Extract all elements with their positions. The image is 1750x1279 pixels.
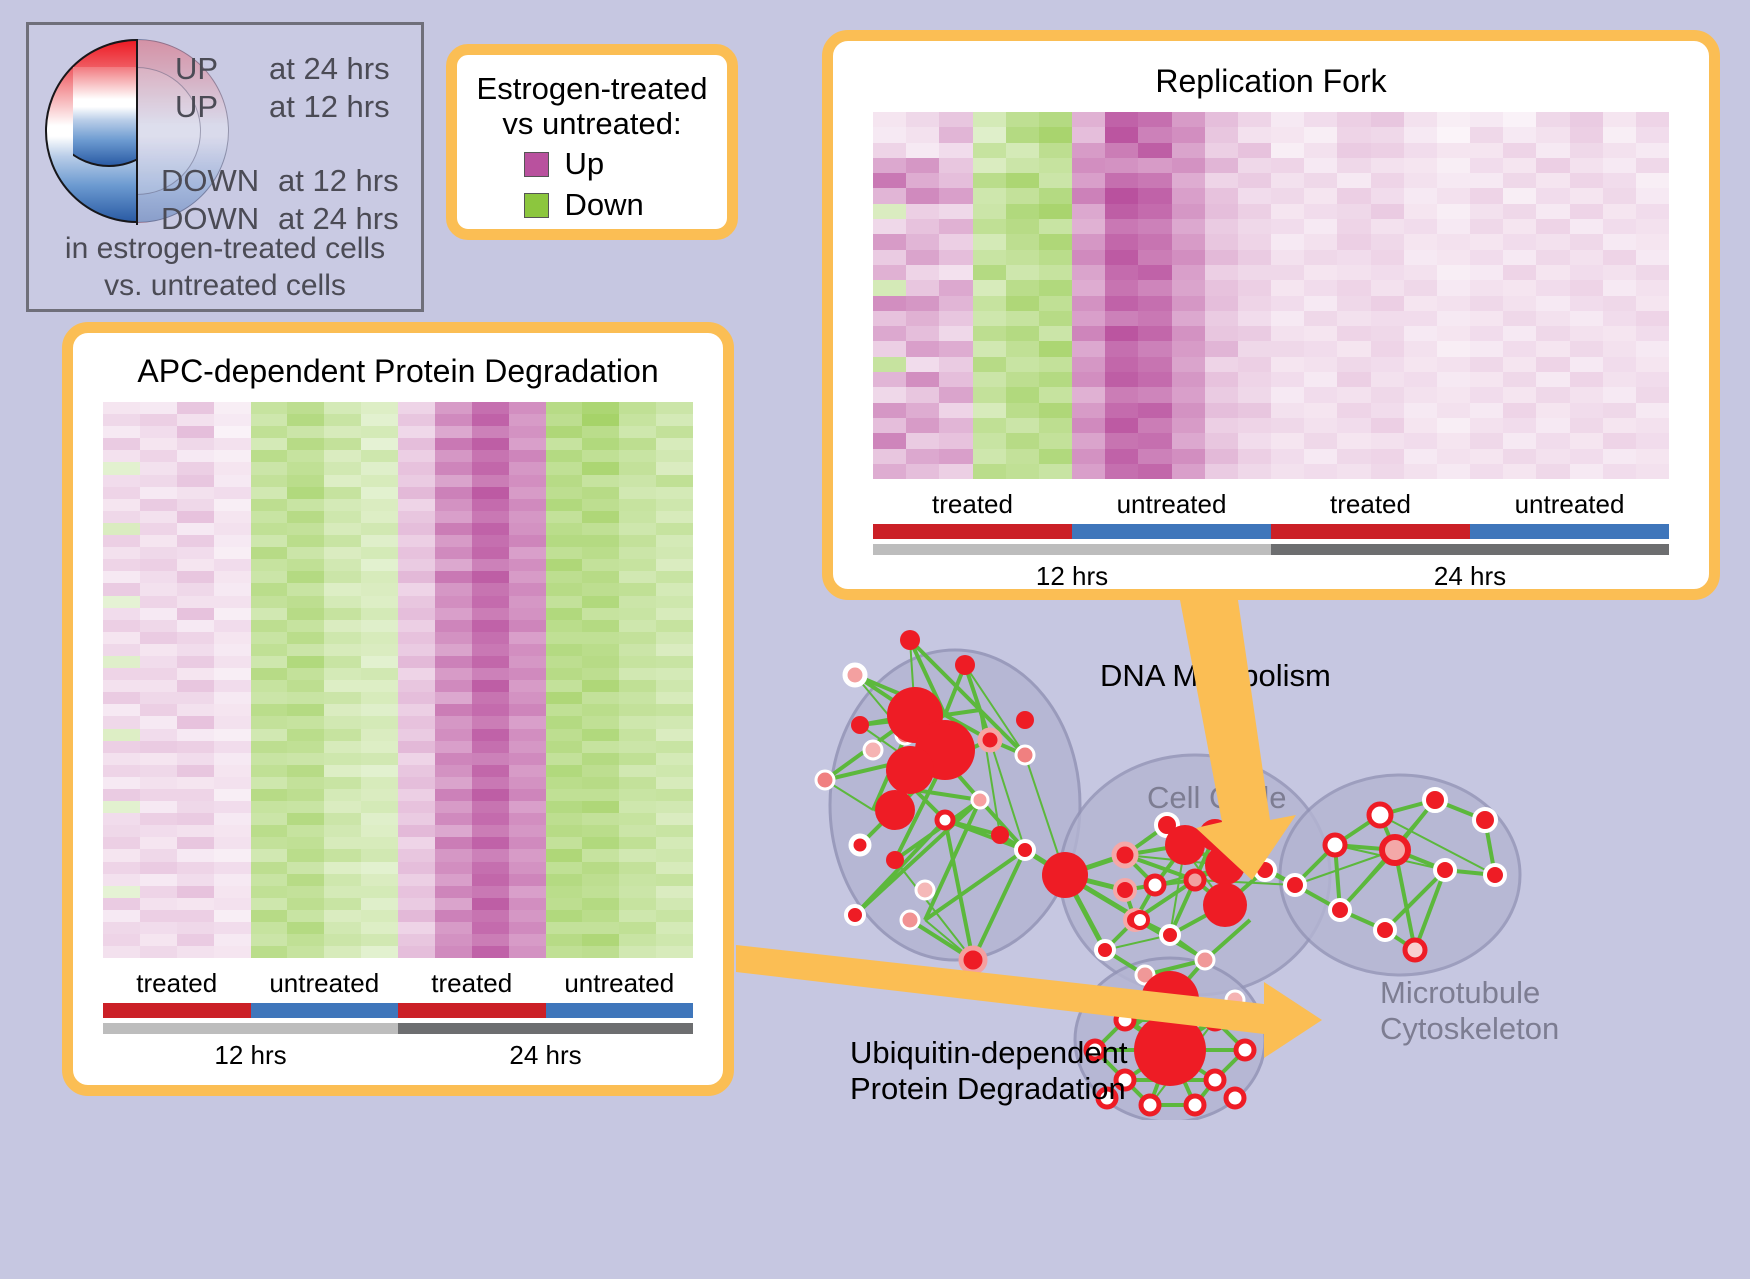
heatmap-cell	[287, 946, 324, 958]
heatmap-cell	[324, 680, 361, 692]
heatmap-cell	[1570, 464, 1603, 479]
heatmap-cell	[103, 511, 140, 523]
heatmap-cell	[1205, 357, 1238, 372]
heatmap-cell	[546, 704, 583, 716]
heatmap-cell	[251, 729, 288, 741]
heatmap-cell	[140, 837, 177, 849]
heatmap-cell	[619, 462, 656, 474]
heatmap-cell	[656, 547, 693, 559]
heatmap-cell	[1636, 372, 1669, 387]
heatmap-cell	[251, 487, 288, 499]
heatmap-cell	[1006, 403, 1039, 418]
heatmap-cell	[324, 862, 361, 874]
heatmap-cell	[324, 414, 361, 426]
heatmap-cell	[103, 547, 140, 559]
heatmap-cell	[214, 668, 251, 680]
heatmap-cell	[1536, 127, 1569, 142]
heatmap-cell	[251, 741, 288, 753]
heatmap-cell	[472, 487, 509, 499]
heatmap-cell	[1172, 188, 1205, 203]
heatmap-cell	[251, 656, 288, 668]
heatmap-cell	[619, 765, 656, 777]
heatmap-cell	[324, 644, 361, 656]
heatmap-cell	[251, 511, 288, 523]
heatmap-cell	[546, 462, 583, 474]
heatmap-cell	[582, 862, 619, 874]
apc-bar-untreated-12	[251, 1003, 399, 1018]
heatmap-cell	[177, 656, 214, 668]
heatmap-cell	[251, 668, 288, 680]
heatmap-cell	[1437, 234, 1470, 249]
heatmap-cell	[287, 596, 324, 608]
heatmap-cell	[1404, 403, 1437, 418]
heatmap-cell	[656, 523, 693, 535]
heatmap-cell	[1337, 403, 1370, 418]
heatmap-cell	[546, 632, 583, 644]
heatmap-cell	[398, 946, 435, 958]
apc-bar-treated-24	[398, 1003, 546, 1018]
heatmap-cell	[1271, 219, 1304, 234]
heatmap-cell	[619, 837, 656, 849]
heatmap-cell	[509, 608, 546, 620]
heatmap-cell	[361, 898, 398, 910]
heatmap-cell	[324, 632, 361, 644]
heatmap-cell	[324, 910, 361, 922]
heatmap-cell	[361, 426, 398, 438]
heatmap-cell	[398, 620, 435, 632]
legend-swatch-down	[524, 193, 549, 218]
heatmap-cell	[214, 511, 251, 523]
apc-group-label-treated-24: treated	[398, 968, 546, 999]
heatmap-cell	[656, 692, 693, 704]
heatmap-cell	[177, 523, 214, 535]
heatmap-cell	[140, 680, 177, 692]
heatmap-cell	[546, 801, 583, 813]
heatmap-cell	[1238, 341, 1271, 356]
heatmap-cell	[1570, 143, 1603, 158]
heatmap-cell	[177, 813, 214, 825]
heatmap-cell	[939, 449, 972, 464]
heatmap-cell	[435, 583, 472, 595]
heatmap-cell	[1039, 464, 1072, 479]
heatmap-cell	[472, 668, 509, 680]
heatmap-cell	[582, 668, 619, 680]
heatmap-cell	[1570, 357, 1603, 372]
heatmap-cell	[1006, 433, 1039, 448]
heatmap-cell	[509, 426, 546, 438]
heatmap-cell	[1437, 173, 1470, 188]
heatmap-cell	[324, 426, 361, 438]
heatmap-cell	[619, 934, 656, 946]
heatmap-cell	[1205, 372, 1238, 387]
heatmap-cell	[546, 934, 583, 946]
heatmap-cell	[472, 632, 509, 644]
heatmap-cell	[1636, 464, 1669, 479]
heatmap-cell	[509, 571, 546, 583]
heatmap-cell	[939, 173, 972, 188]
heatmap-cell	[619, 499, 656, 511]
heatmap-cell	[140, 583, 177, 595]
heatmap-cell	[906, 219, 939, 234]
heatmap-cell	[619, 426, 656, 438]
heatmap-cell	[435, 729, 472, 741]
heatmap-cell	[324, 946, 361, 958]
heatmap-cell	[582, 583, 619, 595]
heatmap-cell	[472, 753, 509, 765]
heatmap-cell	[1636, 265, 1669, 280]
heatmap-cell	[140, 704, 177, 716]
heatmap-cell	[251, 946, 288, 958]
heatmap-cell	[873, 250, 906, 265]
heatmap-cell	[1371, 158, 1404, 173]
heatmap-cell	[582, 402, 619, 414]
heatmap-cell	[1470, 158, 1503, 173]
heatmap-cell	[324, 535, 361, 547]
heatmap-cell	[1172, 234, 1205, 249]
heatmap-cell	[619, 898, 656, 910]
heatmap-cell	[214, 777, 251, 789]
heatmap-cell	[619, 680, 656, 692]
heatmap-cell	[1039, 204, 1072, 219]
bar-time-24	[1271, 544, 1669, 555]
heatmap-cell	[1337, 387, 1370, 402]
heatmap-cell	[1337, 158, 1370, 173]
heatmap-cell	[973, 387, 1006, 402]
heatmap-cell	[287, 910, 324, 922]
heatmap-cell	[177, 862, 214, 874]
heatmap-cell	[1503, 357, 1536, 372]
heatmap-cell	[398, 825, 435, 837]
heatmap-cell	[973, 341, 1006, 356]
heatmap-cell	[1072, 464, 1105, 479]
heatmap-cell	[1437, 372, 1470, 387]
heatmap-cell	[103, 886, 140, 898]
heatmap-cell	[1570, 418, 1603, 433]
heatmap-cell	[214, 716, 251, 728]
heatmap-cell	[251, 426, 288, 438]
heatmap-cell	[656, 462, 693, 474]
heatmap-cell	[656, 825, 693, 837]
heatmap-cell	[177, 596, 214, 608]
heatmap-cell	[1172, 433, 1205, 448]
heatmap-cell	[177, 837, 214, 849]
ring-label-up-24: UP	[175, 51, 218, 87]
heatmap-cell	[1437, 127, 1470, 142]
heatmap-cell	[1570, 326, 1603, 341]
heatmap-cell	[1238, 204, 1271, 219]
heatmap-cell	[1603, 403, 1636, 418]
heatmap-cell	[973, 296, 1006, 311]
heatmap-cell	[1603, 188, 1636, 203]
heatmap-cell	[1636, 433, 1669, 448]
heatmap-cell	[1105, 127, 1138, 142]
heatmap-cell	[656, 487, 693, 499]
heatmap-cell	[873, 326, 906, 341]
heatmap-cell	[177, 632, 214, 644]
heatmap-cell	[251, 886, 288, 898]
heatmap-cell	[251, 632, 288, 644]
heatmap-cell	[656, 837, 693, 849]
heatmap-cell	[214, 583, 251, 595]
heatmap-cell	[1105, 311, 1138, 326]
heatmap-cell	[1404, 433, 1437, 448]
heatmap-cell	[939, 280, 972, 295]
heatmap-cell	[435, 946, 472, 958]
heatmap-cell	[287, 753, 324, 765]
heatmap-cell	[214, 825, 251, 837]
heatmap-cell	[1636, 449, 1669, 464]
heatmap-cell	[1470, 219, 1503, 234]
heatmap-cell	[103, 934, 140, 946]
heatmap-cell	[251, 874, 288, 886]
apc-time-labels: 12 hrs 24 hrs	[103, 1040, 693, 1071]
heatmap-cell	[1205, 433, 1238, 448]
heatmap-cell	[214, 547, 251, 559]
heatmap-cell	[103, 668, 140, 680]
heatmap-cell	[1503, 143, 1536, 158]
heatmap-cell	[1536, 280, 1569, 295]
heatmap-cell	[177, 511, 214, 523]
heatmap-cell	[1039, 250, 1072, 265]
heatmap-cell	[1470, 280, 1503, 295]
heatmap-cell	[1072, 311, 1105, 326]
heatmap-cell	[873, 464, 906, 479]
heatmap-cell	[619, 716, 656, 728]
heatmap-cell	[214, 414, 251, 426]
heatmap-cell	[398, 596, 435, 608]
heatmap-cell	[1039, 372, 1072, 387]
heatmap-cell	[1371, 265, 1404, 280]
heatmap-cell	[906, 127, 939, 142]
heatmap-cell	[1271, 265, 1304, 280]
heatmap-cell	[361, 523, 398, 535]
heatmap-cell	[582, 934, 619, 946]
heatmap-cell	[472, 547, 509, 559]
heatmap-cell	[398, 692, 435, 704]
heatmap-cell	[1437, 326, 1470, 341]
heatmap-cell	[1006, 250, 1039, 265]
apc-degradation-heatmap	[103, 402, 693, 958]
heatmap-cell	[973, 464, 1006, 479]
heatmap-cell	[398, 450, 435, 462]
heatmap-cell	[435, 680, 472, 692]
heatmap-cell	[1205, 250, 1238, 265]
heatmap-cell	[1138, 219, 1171, 234]
heatmap-cell	[287, 559, 324, 571]
heatmap-cell	[1603, 234, 1636, 249]
heatmap-cell	[1006, 143, 1039, 158]
heatmap-cell	[546, 656, 583, 668]
apc-panel-title: APC-dependent Protein Degradation	[73, 353, 723, 390]
time-label-12: 12 hrs	[873, 561, 1271, 592]
heatmap-cell	[472, 825, 509, 837]
heatmap-cell	[546, 680, 583, 692]
heatmap-cell	[939, 296, 972, 311]
heatmap-cell	[435, 825, 472, 837]
heatmap-cell	[656, 886, 693, 898]
heatmap-cell	[140, 825, 177, 837]
heatmap-cell	[906, 280, 939, 295]
heatmap-cell	[1437, 158, 1470, 173]
heatmap-cell	[287, 644, 324, 656]
heatmap-cell	[873, 341, 906, 356]
heatmap-cell	[287, 656, 324, 668]
heatmap-cell	[509, 656, 546, 668]
heatmap-cell	[140, 571, 177, 583]
heatmap-cell	[287, 402, 324, 414]
heatmap-cell	[619, 656, 656, 668]
heatmap-cell	[435, 511, 472, 523]
heatmap-cell	[873, 219, 906, 234]
heatmap-cell	[1072, 387, 1105, 402]
heatmap-cell	[472, 765, 509, 777]
heatmap-cell	[1238, 311, 1271, 326]
color-key-box: UP at 24 hrs UP at 12 hrs DOWN at 12 hrs…	[26, 22, 424, 312]
color-key-footnote-line1: in estrogen-treated cells	[29, 231, 421, 268]
heatmap-cell	[140, 596, 177, 608]
heatmap-cell	[177, 499, 214, 511]
heatmap-cell	[509, 559, 546, 571]
heatmap-cell	[1072, 127, 1105, 142]
heatmap-cell	[1404, 311, 1437, 326]
heatmap-cell	[472, 438, 509, 450]
heatmap-cell	[435, 475, 472, 487]
heatmap-cell	[1437, 387, 1470, 402]
heatmap-cell	[103, 402, 140, 414]
heatmap-cell	[582, 608, 619, 620]
heatmap-cell	[1238, 403, 1271, 418]
heatmap-cell	[1172, 387, 1205, 402]
heatmap-cell	[509, 741, 546, 753]
heatmap-cell	[1470, 250, 1503, 265]
heatmap-cell	[619, 583, 656, 595]
heatmap-cell	[398, 511, 435, 523]
heatmap-cell	[1172, 464, 1205, 479]
heatmap-cell	[939, 357, 972, 372]
heatmap-cell	[435, 608, 472, 620]
group-label-untreated-12: untreated	[1072, 489, 1271, 520]
ring-label-down-12: DOWN	[161, 163, 259, 199]
heatmap-cell	[1603, 127, 1636, 142]
heatmap-cell	[140, 886, 177, 898]
heatmap-cell	[214, 656, 251, 668]
heatmap-cell	[1636, 357, 1669, 372]
heatmap-cell	[1536, 204, 1569, 219]
heatmap-cell	[1404, 418, 1437, 433]
heatmap-cell	[1238, 433, 1271, 448]
heatmap-cell	[1503, 204, 1536, 219]
heatmap-cell	[582, 620, 619, 632]
heatmap-cell	[1437, 464, 1470, 479]
heatmap-cell	[582, 559, 619, 571]
heatmap-cell	[906, 341, 939, 356]
heatmap-cell	[1503, 311, 1536, 326]
heatmap-cell	[906, 449, 939, 464]
heatmap-cell	[1072, 372, 1105, 387]
heatmap-cell	[1470, 403, 1503, 418]
heatmap-cell	[619, 475, 656, 487]
heatmap-cell	[619, 402, 656, 414]
heatmap-cell	[619, 523, 656, 535]
heatmap-cell	[140, 632, 177, 644]
heatmap-cell	[1072, 449, 1105, 464]
heatmap-cell	[1536, 357, 1569, 372]
heatmap-cell	[546, 946, 583, 958]
heatmap-cell	[1006, 311, 1039, 326]
heatmap-cell	[1337, 204, 1370, 219]
heatmap-cell	[214, 559, 251, 571]
heatmap-cell	[1470, 127, 1503, 142]
heatmap-cell	[1238, 127, 1271, 142]
heatmap-cell	[509, 862, 546, 874]
heatmap-cell	[1271, 204, 1304, 219]
heatmap-cell	[973, 188, 1006, 203]
heatmap-cell	[1039, 173, 1072, 188]
heatmap-cell	[435, 862, 472, 874]
heatmap-cell	[398, 716, 435, 728]
heatmap-cell	[140, 535, 177, 547]
heatmap-cell	[1105, 433, 1138, 448]
heatmap-cell	[103, 583, 140, 595]
heatmap-cell	[509, 644, 546, 656]
heatmap-cell	[472, 934, 509, 946]
heatmap-cell	[287, 571, 324, 583]
heatmap-cell	[1172, 158, 1205, 173]
heatmap-cell	[939, 403, 972, 418]
heatmap-cell	[103, 499, 140, 511]
heatmap-cell	[1006, 158, 1039, 173]
heatmap-cell	[287, 620, 324, 632]
heatmap-cell	[1404, 296, 1437, 311]
heatmap-cell	[656, 499, 693, 511]
heatmap-cell	[214, 874, 251, 886]
figure-canvas: UP at 24 hrs UP at 12 hrs DOWN at 12 hrs…	[0, 0, 1750, 1279]
heatmap-cell	[287, 777, 324, 789]
heatmap-cell	[361, 559, 398, 571]
heatmap-cell	[103, 716, 140, 728]
heatmap-cell	[472, 946, 509, 958]
heatmap-cell	[1006, 127, 1039, 142]
legend-item-up: Up	[457, 146, 727, 182]
heatmap-cell	[361, 632, 398, 644]
heatmap-cell	[1404, 280, 1437, 295]
heatmap-cell	[361, 777, 398, 789]
heatmap-cell	[435, 777, 472, 789]
heatmap-cell	[973, 219, 1006, 234]
heatmap-cell	[546, 571, 583, 583]
heatmap-cell	[656, 475, 693, 487]
heatmap-cell	[546, 922, 583, 934]
heatmap-cell	[1205, 341, 1238, 356]
heatmap-cell	[1304, 173, 1337, 188]
heatmap-cell	[398, 813, 435, 825]
heatmap-cell	[1570, 219, 1603, 234]
heatmap-cell	[1172, 418, 1205, 433]
heatmap-cell	[214, 487, 251, 499]
heatmap-cell	[1271, 449, 1304, 464]
heatmap-cell	[582, 523, 619, 535]
heatmap-cell	[509, 801, 546, 813]
heatmap-cell	[619, 632, 656, 644]
heatmap-cell	[619, 487, 656, 499]
heatmap-cell	[1503, 433, 1536, 448]
heatmap-cell	[1337, 143, 1370, 158]
heatmap-cell	[251, 644, 288, 656]
heatmap-cell	[1039, 433, 1072, 448]
heatmap-cell	[509, 475, 546, 487]
heatmap-cell	[435, 620, 472, 632]
heatmap-cell	[1172, 143, 1205, 158]
